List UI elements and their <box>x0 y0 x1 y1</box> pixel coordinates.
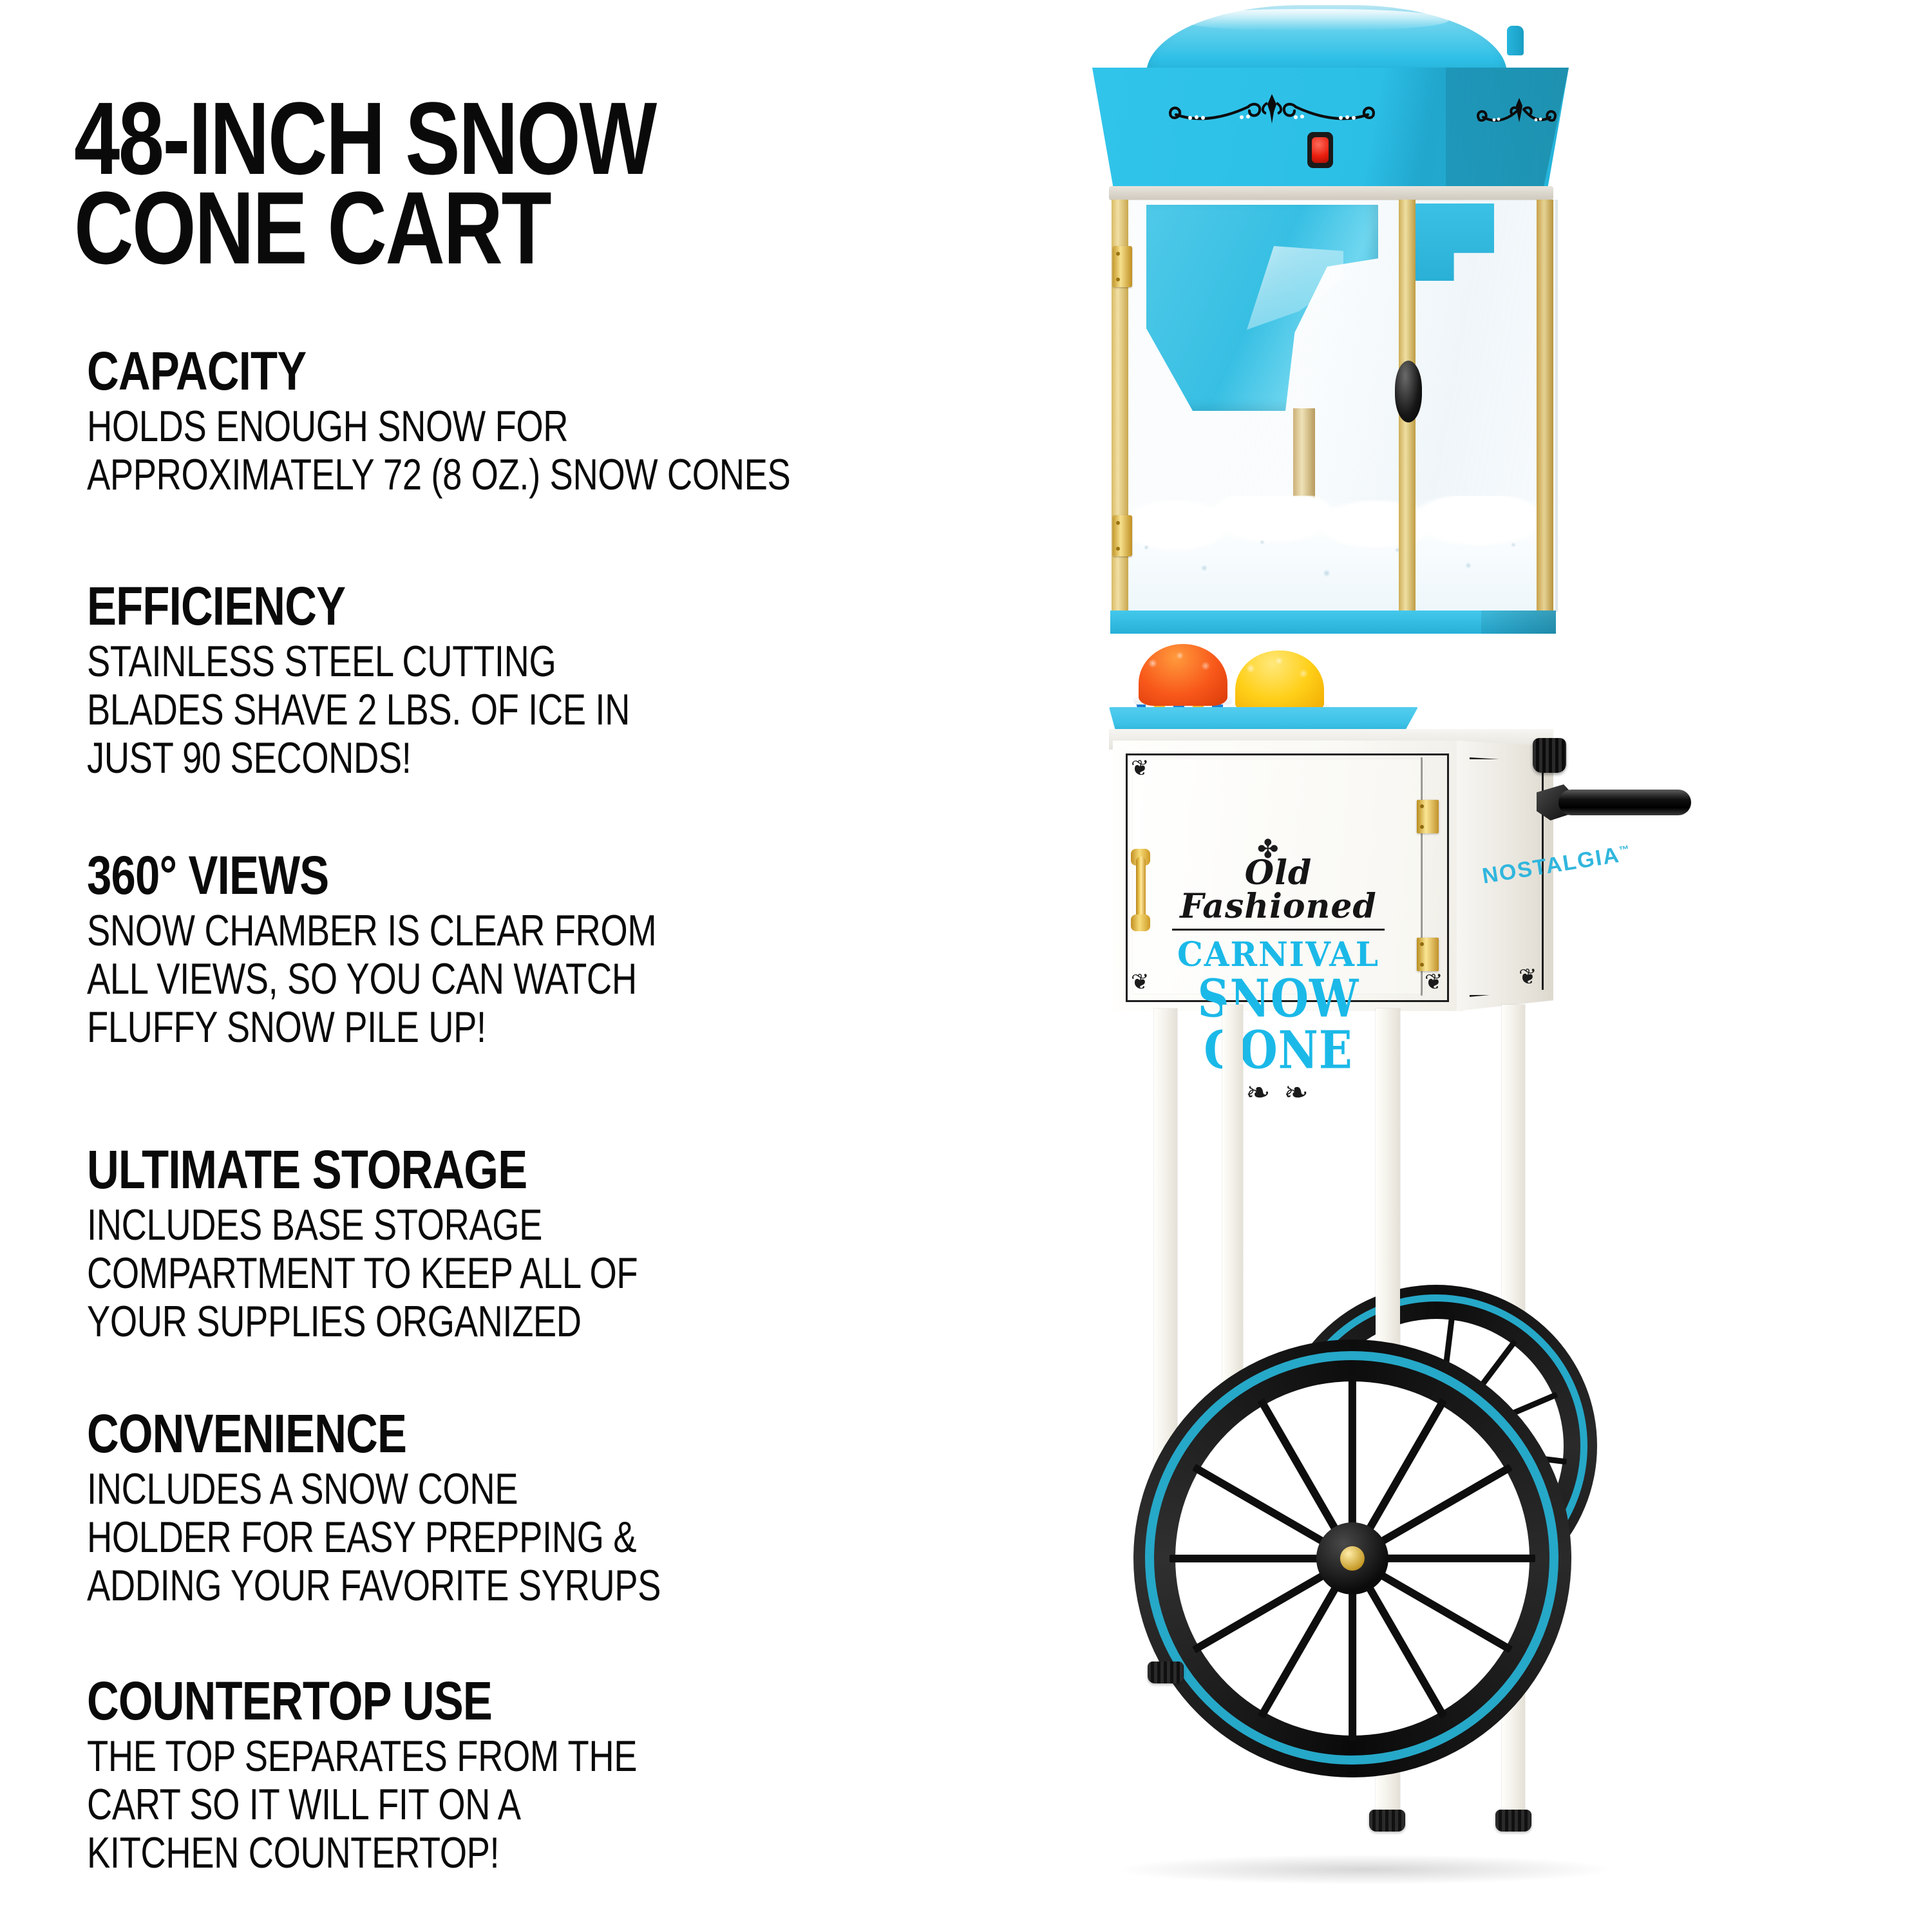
feature-body: STAINLESS STEEL CUTTING BLADES SHAVE 2 L… <box>87 638 834 782</box>
brass-corner-post-right <box>1537 200 1553 612</box>
adjustable-foot-front-left <box>1148 1662 1184 1683</box>
adjustable-foot-front-right <box>1369 1810 1405 1832</box>
chamber-hinge-top <box>1113 246 1132 287</box>
page-title: 48-INCH SNOW CONE CART <box>74 93 754 272</box>
feature-block-360-views: 360° VIEWS SNOW CHAMBER IS CLEAR FROM AL… <box>87 849 1021 1052</box>
logo-script-line: Old Fashioned <box>1172 857 1385 931</box>
feature-text-column: 48-INCH SNOW CONE CART CAPACITY HOLDS EN… <box>0 0 914 1932</box>
feature-block-convenience: CONVENIENCE INCLUDES A SNOW CONE HOLDER … <box>87 1407 1021 1610</box>
handle-bar <box>1136 857 1146 923</box>
feature-body: INCLUDES BASE STORAGE COMPARTMENT TO KEE… <box>87 1201 834 1345</box>
handle-grip-bar <box>1558 790 1691 815</box>
wheel-hub-bolt <box>1340 1546 1365 1571</box>
feature-block-efficiency: EFFICIENCY STAINLESS STEEL CUTTING BLADE… <box>87 580 1021 782</box>
logo-flourish-ornament-icon: ❧ ❧ <box>1172 1077 1385 1107</box>
chute-stem <box>1293 408 1315 505</box>
chamber-base-trim-side <box>1481 611 1556 634</box>
feature-block-capacity: CAPACITY HOLDS ENOUGH SNOW FOR APPROXIMA… <box>87 345 1021 499</box>
feature-body: SNOW CHAMBER IS CLEAR FROM ALL VIEWS, SO… <box>87 907 834 1051</box>
snow-specks <box>1121 528 1548 612</box>
hood-side-tab <box>1507 26 1524 55</box>
feature-heading: EFFICIENCY <box>87 580 853 632</box>
handle-plate-bottom <box>1131 914 1150 931</box>
adjustment-knob[interactable] <box>1533 738 1566 773</box>
feature-heading: ULTIMATE STORAGE <box>87 1143 853 1196</box>
feature-body: HOLDS ENOUGH SNOW FOR APPROXIMATELY 72 (… <box>87 402 834 499</box>
push-handle[interactable] <box>1537 784 1691 820</box>
feature-body: THE TOP SEPARATES FROM THE CART SO IT WI… <box>87 1732 834 1877</box>
feature-heading: COUNTERTOP USE <box>87 1674 853 1727</box>
chamber-hinge-bottom <box>1113 515 1132 556</box>
cabinet-door-handle[interactable] <box>1131 849 1150 931</box>
feature-heading: CONVENIENCE <box>87 1407 853 1460</box>
power-switch-button[interactable] <box>1307 132 1333 168</box>
feature-body: INCLUDES A SNOW CONE HOLDER FOR EASY PRE… <box>87 1465 834 1609</box>
trademark-symbol: ™ <box>1618 844 1631 857</box>
corner-flourish-icon: ❦ <box>1425 971 1443 993</box>
feature-heading: 360° VIEWS <box>87 849 853 902</box>
feature-heading: CAPACITY <box>87 345 853 397</box>
shaved-ice-yellow <box>1235 650 1324 712</box>
corner-flourish-icon: ❦ <box>1131 757 1150 779</box>
corner-flourish-icon: ❦ <box>1131 971 1150 993</box>
feature-block-ultimate-storage: ULTIMATE STORAGE INCLUDES BASE STORAGE C… <box>87 1143 1021 1346</box>
logo-carnival-line: CARNIVAL <box>1172 938 1385 972</box>
hood-bottom-lip <box>1109 186 1553 200</box>
wheel-hub <box>1316 1522 1388 1595</box>
hood-dome-highlight <box>1179 9 1449 31</box>
feature-block-countertop-use: COUNTERTOP USE THE TOP SEPARATES FROM TH… <box>87 1674 1021 1877</box>
cabinet-hinge-top <box>1417 800 1439 833</box>
wagon-wheel-front <box>1133 1340 1571 1777</box>
corner-flourish-icon: ❦ <box>1519 966 1537 988</box>
cabinet-logo-decal: Old Fashioned CARNIVAL SNOW CONE ❧ ❧ <box>1172 857 1385 1107</box>
logo-snow-cone-line: SNOW CONE <box>1172 973 1385 1076</box>
chamber-door-knob[interactable] <box>1395 361 1422 422</box>
contact-shadow <box>1121 1855 1610 1884</box>
product-photo-snow-cone-cart: ✤ Old Fashioned CARNIVAL SNOW CONE ❧ ❧ ❦… <box>966 0 1932 1932</box>
adjustable-foot-back-right <box>1495 1810 1531 1832</box>
shaved-ice-orange <box>1139 644 1227 706</box>
cabinet-hinge-bottom <box>1417 938 1439 971</box>
